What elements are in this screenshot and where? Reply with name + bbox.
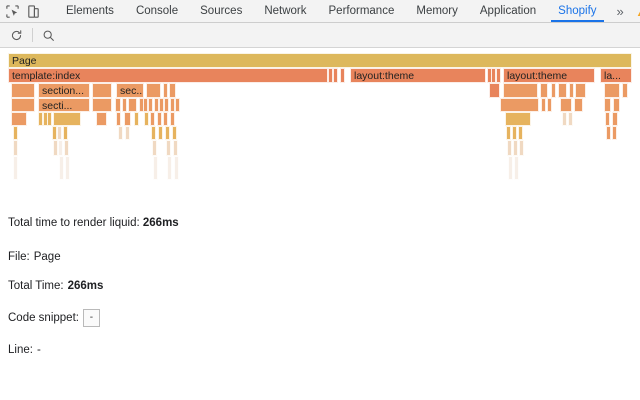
total-render-row: Total time to render liquid: 266ms — [8, 217, 640, 229]
more-tabs-icon[interactable]: » — [608, 0, 633, 22]
flame-bar[interactable] — [170, 112, 175, 126]
flame-bar[interactable] — [13, 156, 18, 180]
tab-application[interactable]: Application — [469, 0, 547, 22]
flame-bar-labeled[interactable]: sec... — [116, 83, 144, 98]
flame-bar[interactable] — [165, 126, 170, 140]
flame-bar[interactable] — [500, 98, 539, 112]
flame-bar[interactable] — [164, 98, 169, 112]
flame-bar[interactable] — [167, 156, 172, 180]
line-value: - — [37, 344, 41, 356]
devtools-tabstrip: Elements Console Sources Network Perform… — [0, 0, 640, 23]
tab-network[interactable]: Network — [253, 0, 317, 22]
flame-bar-labeled[interactable]: Page — [8, 53, 632, 68]
flame-bar[interactable] — [503, 83, 538, 98]
flame-bar[interactable] — [496, 68, 501, 83]
flame-bar[interactable] — [63, 126, 68, 140]
flame-bar[interactable] — [166, 140, 171, 156]
flame-bar[interactable] — [505, 112, 531, 126]
flame-bar[interactable] — [13, 140, 18, 156]
file-label: File: — [8, 251, 30, 263]
flame-bar[interactable] — [541, 98, 546, 112]
flame-bar-labeled[interactable]: layout:theme — [350, 68, 486, 83]
flame-bar[interactable] — [519, 140, 524, 156]
total-time-row: Total Time: 266ms — [8, 280, 640, 292]
flame-bar[interactable] — [513, 140, 518, 156]
flame-bar[interactable] — [118, 126, 123, 140]
flame-bar[interactable] — [13, 126, 18, 140]
flame-bar[interactable] — [11, 98, 35, 112]
tabstrip-right-cluster: 19 — [633, 0, 640, 22]
flame-bar[interactable] — [122, 98, 127, 112]
flame-bar[interactable] — [551, 83, 556, 98]
flame-bar-labeled[interactable]: secti... — [38, 98, 90, 112]
device-toolbar-icon[interactable] — [26, 4, 41, 19]
flame-bar[interactable] — [151, 126, 156, 140]
flame-bar[interactable] — [53, 112, 81, 126]
tab-label: Console — [136, 5, 178, 17]
flame-bar[interactable] — [64, 140, 69, 156]
flame-bar[interactable] — [547, 98, 552, 112]
flame-bar[interactable] — [518, 126, 523, 140]
panel-toolbar — [0, 23, 640, 48]
flame-bar[interactable] — [59, 156, 64, 180]
file-value: Page — [34, 251, 61, 263]
flame-bar[interactable] — [560, 98, 572, 112]
flame-bar[interactable] — [540, 83, 548, 98]
flame-bar[interactable] — [574, 98, 583, 112]
flame-bar[interactable] — [11, 112, 27, 126]
tab-memory[interactable]: Memory — [405, 0, 469, 22]
line-label: Line: — [8, 344, 33, 356]
total-render-value: 266ms — [143, 217, 179, 229]
flame-bar[interactable] — [605, 112, 610, 126]
flame-bar[interactable] — [150, 112, 155, 126]
flame-bar[interactable] — [569, 83, 574, 98]
flame-bar-labeled[interactable]: layout:theme — [503, 68, 595, 83]
panel-tabs: Elements Console Sources Network Perform… — [55, 0, 608, 22]
tab-shopify[interactable]: Shopify — [547, 0, 607, 22]
tab-performance[interactable]: Performance — [318, 0, 406, 22]
code-snippet-box[interactable]: - — [83, 309, 100, 327]
flame-bar[interactable] — [169, 83, 176, 98]
warning-indicator[interactable]: 19 — [633, 5, 640, 17]
flame-bar-labeled[interactable]: la... — [600, 68, 632, 83]
devtools-window: Elements Console Sources Network Perform… — [0, 0, 640, 400]
flame-bar[interactable] — [604, 83, 620, 98]
flame-bar[interactable] — [575, 83, 586, 98]
flame-bar[interactable] — [96, 112, 107, 126]
liquid-flame-chart[interactable]: Pagetemplate:indexlayout:themelayout:the… — [0, 49, 640, 199]
more-tabs-label: » — [617, 4, 624, 19]
refresh-button[interactable] — [8, 27, 25, 44]
line-row: Line: - — [8, 344, 640, 356]
flame-bar[interactable] — [514, 156, 519, 180]
flame-bar[interactable] — [622, 83, 628, 98]
flame-bar[interactable] — [163, 112, 168, 126]
flame-bar[interactable] — [153, 156, 158, 180]
tab-elements[interactable]: Elements — [55, 0, 125, 22]
inspect-element-icon[interactable] — [5, 4, 20, 19]
flame-bar[interactable] — [340, 68, 345, 83]
flame-bar[interactable] — [125, 126, 130, 140]
flame-bar[interactable] — [92, 98, 112, 112]
total-time-value: 266ms — [68, 280, 104, 292]
file-row: File: Page — [8, 251, 640, 263]
search-button[interactable] — [40, 27, 57, 44]
flame-bar[interactable] — [568, 112, 573, 126]
flame-bar[interactable] — [116, 112, 121, 126]
flame-bar[interactable] — [612, 126, 617, 140]
flame-bar[interactable] — [47, 112, 52, 126]
flame-bar[interactable] — [134, 112, 139, 126]
toolbar-divider-2 — [32, 28, 33, 42]
flame-bar[interactable] — [158, 126, 163, 140]
flame-bar[interactable] — [144, 112, 149, 126]
flame-bar[interactable] — [146, 83, 161, 98]
flame-bar[interactable] — [57, 126, 62, 140]
flame-bar[interactable] — [11, 83, 35, 98]
flame-bar[interactable] — [172, 126, 177, 140]
code-snippet-label: Code snippet: — [8, 312, 79, 324]
flame-bar[interactable] — [65, 156, 70, 180]
flame-bar[interactable] — [115, 98, 121, 112]
tab-label: Network — [264, 5, 306, 17]
tab-label: Sources — [200, 5, 242, 17]
tab-label: Elements — [66, 5, 114, 17]
tab-label: Memory — [416, 5, 458, 17]
flame-bar[interactable] — [92, 83, 112, 98]
tab-label: Application — [480, 5, 536, 17]
flame-bar[interactable] — [562, 112, 567, 126]
flame-bar[interactable] — [507, 140, 512, 156]
flame-bar[interactable] — [58, 140, 63, 156]
flame-bar[interactable] — [163, 83, 168, 98]
flame-bar[interactable] — [506, 126, 511, 140]
flame-bar[interactable] — [124, 112, 131, 126]
total-render-label: Total time to render liquid: — [8, 217, 140, 229]
flame-bar[interactable] — [128, 98, 137, 112]
flame-bar[interactable] — [157, 112, 162, 126]
total-time-label: Total Time: — [8, 280, 64, 292]
code-snippet-row: Code snippet: - — [8, 309, 640, 327]
devtools-tool-icons — [0, 0, 45, 22]
flame-bar[interactable] — [612, 112, 618, 126]
flame-bar[interactable] — [333, 68, 338, 83]
flame-bar[interactable] — [489, 83, 500, 98]
tab-console[interactable]: Console — [125, 0, 189, 22]
flame-bar-labeled[interactable]: template:index — [8, 68, 328, 83]
flame-bar-labeled[interactable]: section... — [38, 83, 90, 98]
flame-bar[interactable] — [173, 140, 178, 156]
flame-bar[interactable] — [175, 98, 180, 112]
flame-bar[interactable] — [613, 98, 620, 112]
flame-bar[interactable] — [606, 126, 611, 140]
tab-label: Shopify — [558, 5, 596, 17]
flame-bar[interactable] — [512, 126, 517, 140]
details-pane: Total time to render liquid: 266ms File:… — [0, 205, 640, 400]
flame-bar[interactable] — [174, 156, 179, 180]
flame-bar[interactable] — [558, 83, 567, 98]
flame-bar[interactable] — [604, 98, 611, 112]
flame-bar[interactable] — [508, 156, 513, 180]
flame-bar[interactable] — [152, 140, 157, 156]
tab-label: Performance — [329, 5, 395, 17]
flame-bar[interactable] — [148, 98, 153, 112]
tab-sources[interactable]: Sources — [189, 0, 253, 22]
